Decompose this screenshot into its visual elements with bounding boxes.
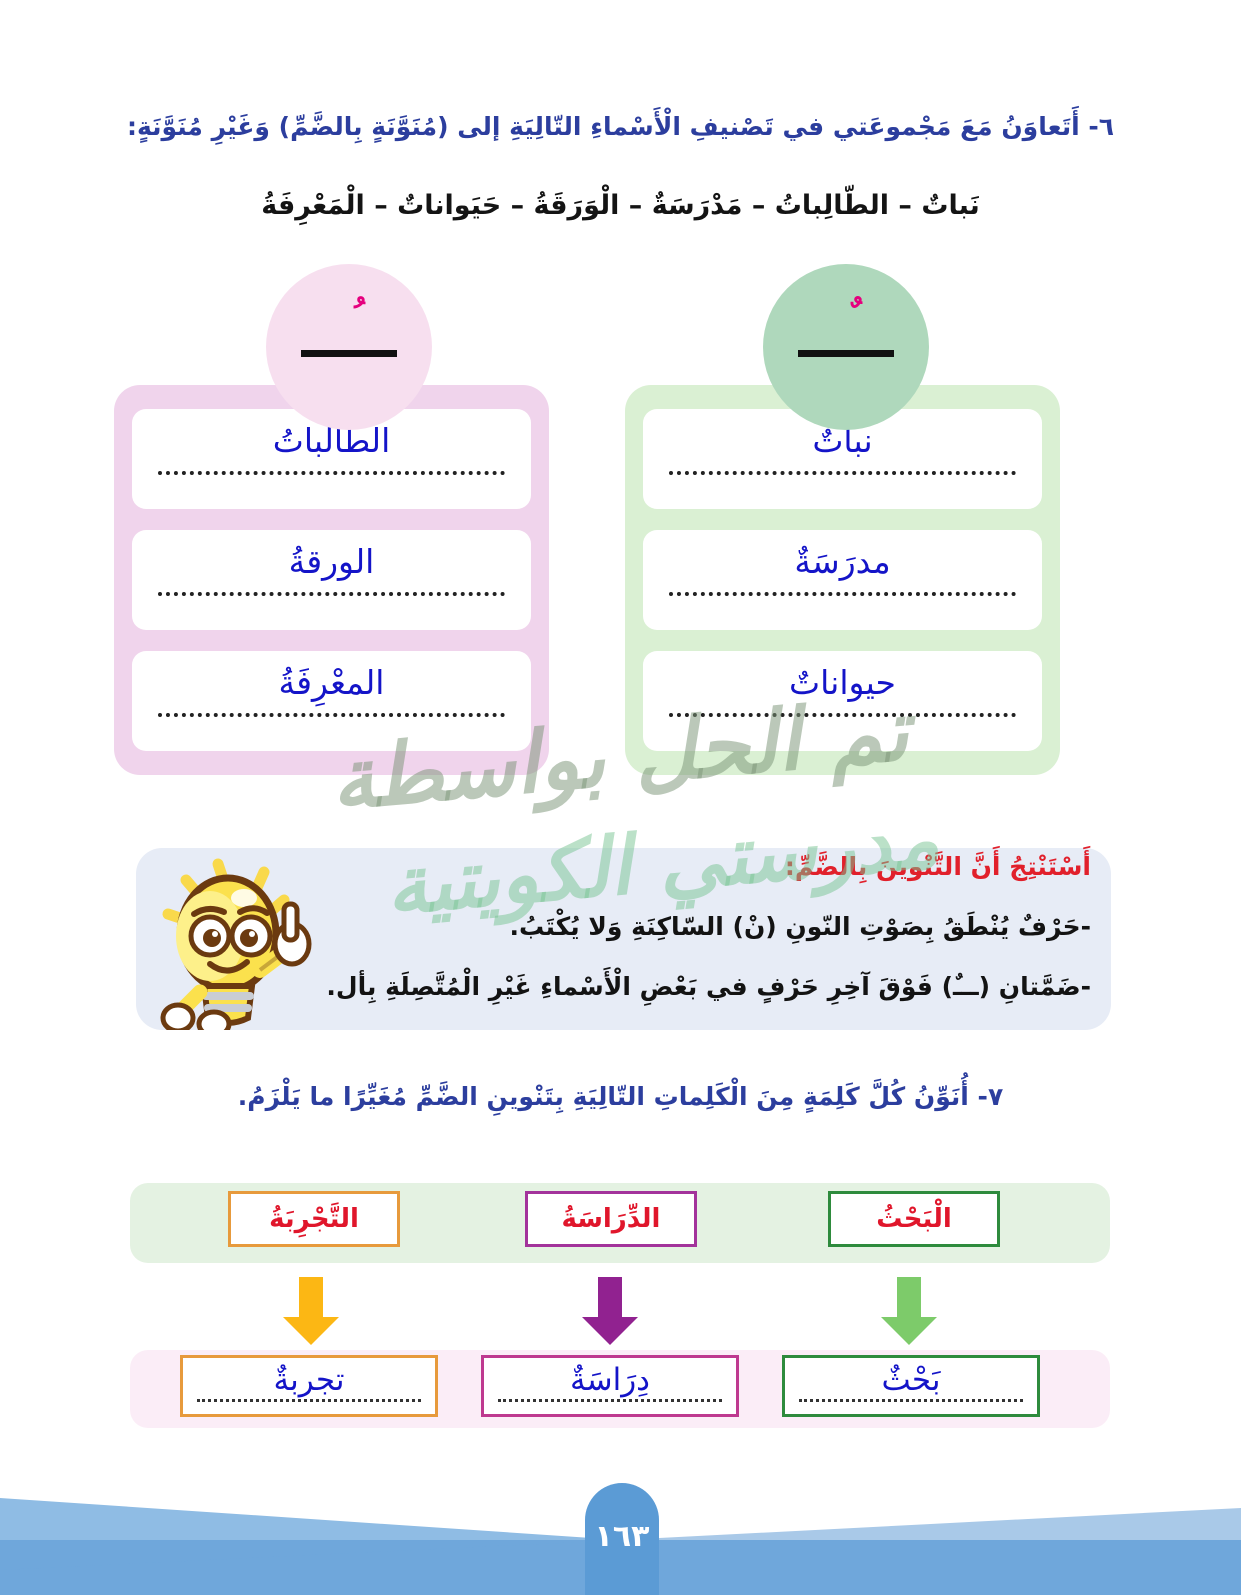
- handwritten-answer: دِرَاسَةٌ: [484, 1362, 736, 1398]
- exercise-6-heading: ٦- أَتَعاوَنُ مَعَ مَجْموعَتي في تَصْنيف…: [0, 112, 1241, 141]
- prompt-word-text: الدِّرَاسَةُ: [562, 1204, 661, 1234]
- prompt-word-text: الْبَحْثُ: [876, 1204, 952, 1234]
- handwritten-answer: حيواناتٌ: [643, 663, 1042, 702]
- exercise-6-word-list: نَباتٌ – الطّالِباتُ – مَدْرَسَةٌ – الْو…: [0, 190, 1241, 221]
- conclusion-bullet-2: -ضَمَّتانِ (ـــٌ) فَوْقَ آخِرِ حَرْفٍ في…: [326, 972, 1091, 1001]
- handwritten-answer: بَحْثٌ: [785, 1362, 1037, 1398]
- handwritten-answer: تجربةٌ: [183, 1362, 435, 1398]
- conclusion-title: أَسْتَنْتِجُ أَنَّ التَّنْوينَ بِالضَّمِ…: [785, 852, 1091, 881]
- answer-word-card[interactable]: تجربةٌ: [180, 1355, 438, 1417]
- lightbulb-mascot-icon: [148, 852, 338, 1030]
- category-circle-single-damma: ُ: [266, 264, 432, 430]
- circle-rule: [798, 350, 894, 357]
- dotted-line: [197, 1399, 421, 1402]
- dotted-line: [669, 471, 1016, 475]
- prompt-word-text: التَّجْرِبَةُ: [269, 1204, 359, 1234]
- sorting-panel-non-tanween: الطالباتُ الورقةُ المعْرِفَةُ: [114, 385, 549, 775]
- dotted-line: [498, 1399, 722, 1402]
- answer-slot[interactable]: مدرَسَةٌ: [643, 530, 1042, 630]
- category-circle-tanween-damma: ٌ: [763, 264, 929, 430]
- dotted-line: [669, 592, 1016, 596]
- prompt-word-card: التَّجْرِبَةُ: [228, 1191, 400, 1247]
- answer-slot[interactable]: الورقةُ: [132, 530, 531, 630]
- prompt-word-card: الدِّرَاسَةُ: [525, 1191, 697, 1247]
- arrow-down-icon: [281, 1277, 341, 1345]
- exercise-7-heading: ٧- أُنَوِّنُ كُلَّ كَلِمَةٍ مِنَ الْكَلِ…: [0, 1082, 1241, 1111]
- dotted-line: [158, 592, 505, 596]
- conclusion-bullet-1: -حَرْفٌ يُنْطَقُ بِصَوْتِ النّونِ (نْ) ا…: [509, 912, 1091, 941]
- dotted-line: [669, 713, 1016, 717]
- dotted-line: [158, 471, 505, 475]
- dotted-line: [799, 1399, 1023, 1402]
- arrow-down-icon: [580, 1277, 640, 1345]
- prompt-word-card: الْبَحْثُ: [828, 1191, 1000, 1247]
- page-number: ١٦٣: [595, 1519, 650, 1554]
- dotted-line: [158, 713, 505, 717]
- answer-word-card[interactable]: بَحْثٌ: [782, 1355, 1040, 1417]
- arrow-down-icon: [879, 1277, 939, 1345]
- sorting-panel-tanween: نباتٌ مدرَسَةٌ حيواناتٌ: [625, 385, 1060, 775]
- answer-slot[interactable]: المعْرِفَةُ: [132, 651, 531, 751]
- answer-word-card[interactable]: دِرَاسَةٌ: [481, 1355, 739, 1417]
- handwritten-answer: مدرَسَةٌ: [643, 542, 1042, 581]
- answer-slot[interactable]: حيواناتٌ: [643, 651, 1042, 751]
- handwritten-answer: الورقةُ: [132, 542, 531, 581]
- circle-rule: [301, 350, 397, 357]
- handwritten-answer: المعْرِفَةُ: [132, 663, 531, 702]
- page-number-tab: ١٦٣: [585, 1483, 659, 1595]
